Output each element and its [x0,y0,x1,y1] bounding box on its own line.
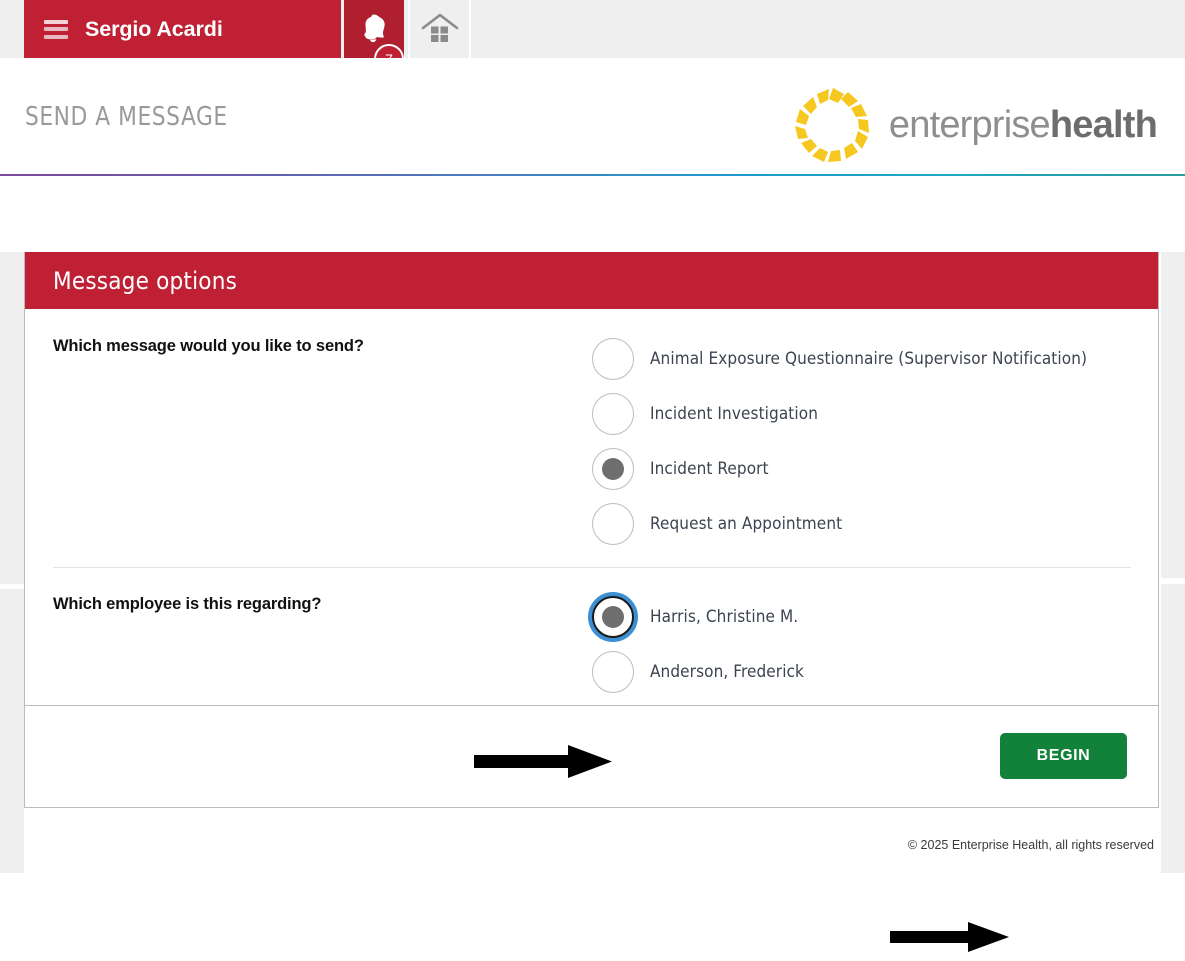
page-title: SEND A MESSAGE [25,102,228,132]
brand-name-light: enterprise [889,104,1050,146]
question-group-message-type: Which message would you like to send? An… [25,309,1158,567]
radio-option-request-an-appointment[interactable]: Request an Appointment [585,496,1158,551]
home-button[interactable] [408,0,471,58]
card-header: Message options [25,252,1158,309]
copyright-footer: © 2025 Enterprise Health, all rights res… [908,838,1154,852]
radio-option-label: Incident Report [650,459,769,479]
top-navigation-bar: Sergio Acardi 7 [0,0,1185,58]
brand-name-bold: health [1050,104,1157,146]
radio-indicator[interactable] [592,503,634,545]
card-header-title: Message options [53,267,237,295]
radio-indicator[interactable] [592,651,634,693]
page-header: SEND A MESSAGE [0,58,1185,175]
left-background-strip-bottom [0,589,24,873]
arrow-to-begin-button-icon [888,918,1013,956]
right-background-strip-top [1161,252,1185,578]
radio-indicator[interactable] [592,338,634,380]
brand-wordmark: enterprisehealth [889,106,1157,144]
question-group-employee: Which employee is this regarding? Harris… [25,567,1158,715]
hamburger-icon[interactable] [44,20,68,39]
bell-icon [357,11,391,45]
user-menu-button[interactable]: Sergio Acardi [24,0,341,58]
radio-group-employee: Harris, Christine M. Anderson, Frederick [585,589,1158,699]
radio-option-label: Incident Investigation [650,404,818,424]
brand-logo: enterprisehealth [791,86,1157,164]
radio-option-incident-investigation[interactable]: Incident Investigation [585,386,1158,441]
begin-button[interactable]: BEGIN [1000,733,1127,779]
action-panel: BEGIN [24,705,1159,808]
radio-option-label: Animal Exposure Questionnaire (Superviso… [650,349,1087,369]
radio-indicator-selected[interactable] [592,448,634,490]
radio-option-anderson-frederick[interactable]: Anderson, Frederick [585,644,1158,699]
nav-username-label: Sergio Acardi [85,17,223,42]
right-background-strip-bottom [1161,584,1185,873]
card-body: Which message would you like to send? An… [25,309,1158,715]
radio-option-label: Request an Appointment [650,514,842,534]
question-label: Which employee is this regarding? [25,589,585,699]
nav-empty-area [473,0,1185,58]
home-icon [421,12,459,46]
radio-option-incident-report[interactable]: Incident Report [585,441,1158,496]
radio-option-harris-christine[interactable]: Harris, Christine M. [585,589,1158,644]
radio-indicator[interactable] [592,393,634,435]
question-label: Which message would you like to send? [25,331,585,551]
radio-group-message-type: Animal Exposure Questionnaire (Superviso… [585,331,1158,551]
message-options-card: Message options Which message would you … [24,252,1159,716]
page-body: Message options Which message would you … [0,176,1185,873]
radio-indicator-selected-focused[interactable] [592,596,634,638]
radio-option-label: Anderson, Frederick [650,662,804,682]
radio-option-label: Harris, Christine M. [650,607,798,627]
sunburst-logo-icon [791,86,875,164]
left-background-strip-top [0,252,24,584]
radio-option-animal-exposure-questionnaire[interactable]: Animal Exposure Questionnaire (Superviso… [585,331,1158,386]
